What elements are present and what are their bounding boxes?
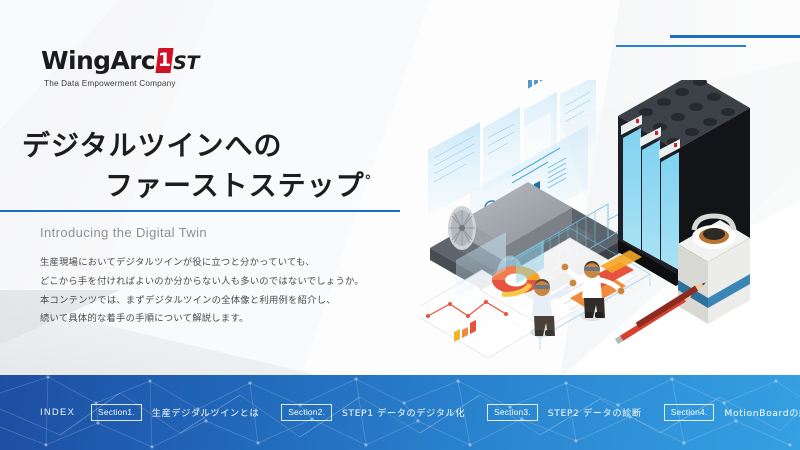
body-line-3: 本コンテンツでは、まずデジタルツインの全体像と利用例を紹介し、 [40,292,420,311]
page-title: デジタルツインへの ファーストステップ° [0,126,410,206]
section4-label[interactable]: MotionBoardの紹介 [724,405,800,419]
index-row: INDEX Section1. 生産デジタルツインとは Section2. ST… [0,375,800,450]
section2-label[interactable]: STEP1 データのデジタル化 [342,405,465,419]
logo-st-suffix: ST [173,54,199,73]
footer-item-section1[interactable]: Section1. 生産デジタルツインとは [91,404,281,421]
section3-number[interactable]: Section3. [487,404,538,421]
logo-one-badge: 1 [156,48,174,73]
logo-tagline: The Data Empowerment Company [44,79,199,88]
page-title-line-1: デジタルツインへの [0,126,410,166]
digital-twin-illustration [420,80,800,360]
body-line-1: 生産現場においてデジタルツインが役に立つと分かっていても、 [40,254,420,273]
body-line-2: どこから手を付ければよいのか分からない人も多いのではないでしょうか。 [40,273,420,292]
logo-lockup: WingArc 1 ST [41,48,199,73]
page-title-degree: ° [365,173,373,188]
section1-label[interactable]: 生産デジタルツインとは [152,405,259,419]
page-subtitle: Introducing the Digital Twin [40,225,207,240]
section3-label[interactable]: STEP2 データの診断 [548,405,642,419]
slide-root: WingArc 1 ST The Data Empowerment Compan… [0,0,800,450]
logo-badge-digit: 1 [157,51,172,70]
section1-number[interactable]: Section1. [91,404,142,421]
body-line-4: 続いて具体的な着手の手順について解説します。 [40,310,420,329]
footer-index-bar: INDEX Section1. 生産デジタルツインとは Section2. ST… [0,375,800,450]
page-title-line-2-text: ファーストステップ [105,169,365,202]
logo-wordmark: WingArc [41,48,155,73]
accent-rule-secondary [616,45,746,47]
index-label: INDEX [40,407,75,418]
accent-rule-primary [670,35,800,38]
footer-item-section3[interactable]: Section3. STEP2 データの診断 [487,404,664,421]
body-copy: 生産現場においてデジタルツインが役に立つと分かっていても、 どこから手を付ければ… [40,254,420,329]
page-title-line-2: ファーストステップ° [0,166,410,206]
brand-logo: WingArc 1 ST The Data Empowerment Compan… [41,48,199,88]
section4-number[interactable]: Section4. [664,404,715,421]
footer-item-section2[interactable]: Section2. STEP1 データのデジタル化 [281,404,487,421]
section2-number[interactable]: Section2. [281,404,332,421]
title-underline [0,210,400,212]
footer-item-section4[interactable]: Section4. MotionBoardの紹介 [664,404,800,421]
